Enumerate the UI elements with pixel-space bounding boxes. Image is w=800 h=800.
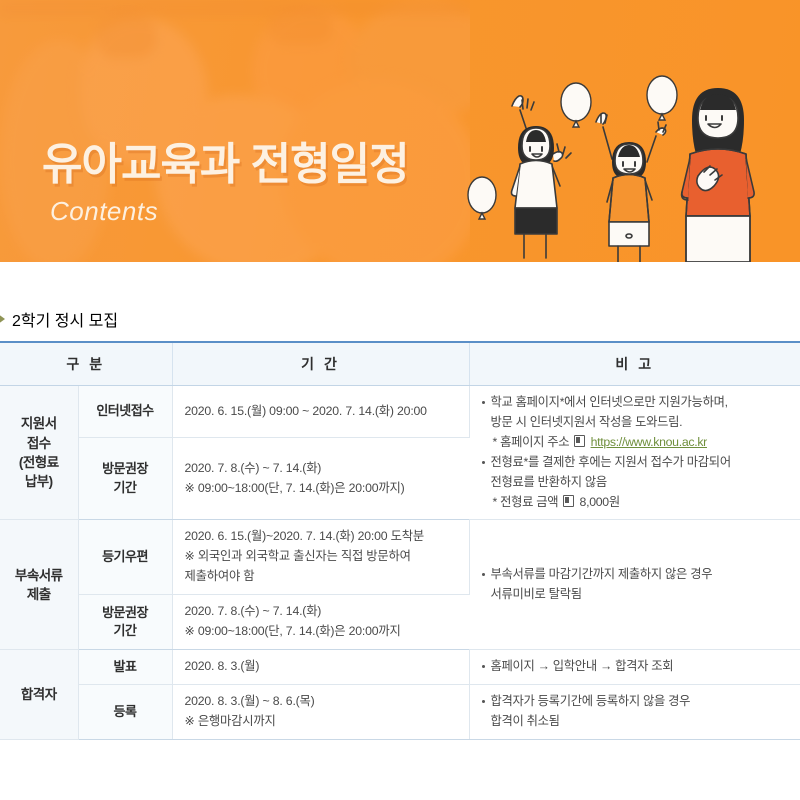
- section-heading: 2학기 정시 모집: [0, 305, 800, 333]
- subcategory-visit-period: 방문권장 기간: [78, 438, 172, 520]
- subcategory-registration: 등록: [78, 684, 172, 739]
- triangle-bullet-icon: [0, 314, 5, 324]
- subcategory-visit-period: 방문권장 기간: [78, 595, 172, 650]
- remark-application-receipt: 학교 홈페이지*에서 인터넷으로만 지원가능하며, 방문 시 인터넷지원서 작성…: [469, 386, 800, 520]
- banner-title: 유아교육과 전형일정: [42, 128, 409, 192]
- celebrating-people-illustration: [460, 62, 800, 262]
- subcategory-announcement: 발표: [78, 649, 172, 684]
- table-row: 등록 2020. 8. 3.(월) ~ 8. 6.(목) ※ 은행마감시까지 합…: [0, 684, 800, 739]
- column-header-period: 기 간: [172, 342, 469, 386]
- category-document-submission: 부속서류 제출: [0, 520, 78, 650]
- category-application-receipt: 지원서 접수 (전형료 납부): [0, 386, 78, 520]
- banner-subtitle: Contents: [50, 196, 158, 227]
- column-header-remark: 비 고: [469, 342, 800, 386]
- table-header-row: 구 분 기 간 비 고: [0, 342, 800, 386]
- period-announcement: 2020. 8. 3.(월): [172, 649, 469, 684]
- period-internet-receipt: 2020. 6. 15.(월) 09:00 ~ 2020. 7. 14.(화) …: [172, 386, 469, 438]
- fee-amount-value: 8,000원: [580, 495, 620, 509]
- table-row: 지원서 접수 (전형료 납부) 인터넷접수 2020. 6. 15.(월) 09…: [0, 386, 800, 438]
- table-row: 부속서류 제출 등기우편 2020. 6. 15.(월)~2020. 7. 14…: [0, 520, 800, 595]
- admission-schedule-table: 구 분 기 간 비 고 지원서 접수 (전형료 납부) 인터넷접수 2020. …: [0, 341, 800, 740]
- period-registered-mail: 2020. 6. 15.(월)~2020. 7. 14.(화) 20:00 도착…: [172, 520, 469, 595]
- category-successful-applicant: 합격자: [0, 649, 78, 739]
- homepage-address-label: * 홈페이지 주소: [493, 435, 570, 449]
- column-header-category: 구 분: [0, 342, 172, 386]
- remark-registration: 합격자가 등록기간에 등록하지 않을 경우 합격이 취소됨: [469, 684, 800, 739]
- subcategory-registered-mail: 등기우편: [78, 520, 172, 595]
- girl-figure: [512, 96, 572, 258]
- period-visit-recommended: 2020. 7. 8.(수) ~ 7. 14.(화) ※ 09:00~18:00…: [172, 438, 469, 520]
- period-registration: 2020. 8. 3.(월) ~ 8. 6.(목) ※ 은행마감시까지: [172, 684, 469, 739]
- table-row: 합격자 발표 2020. 8. 3.(월) 홈페이지 → 입학안내 → 합격자 …: [0, 649, 800, 684]
- subcategory-internet-receipt: 인터넷접수: [78, 386, 172, 438]
- section-heading-label: 2학기 정시 모집: [12, 307, 118, 331]
- woman-figure: [682, 88, 755, 262]
- boy-figure: [596, 113, 666, 262]
- page-banner: 유아교육과 전형일정 Contents: [0, 0, 800, 262]
- remark-announcement: 홈페이지 → 입학안내 → 합격자 조회: [469, 649, 800, 684]
- document-icon: [574, 435, 585, 447]
- knou-homepage-link[interactable]: https://www.knou.ac.kr: [591, 435, 707, 449]
- document-icon: [563, 495, 574, 507]
- period-visit-recommended: 2020. 7. 8.(수) ~ 7. 14.(화) ※ 09:00~18:00…: [172, 595, 469, 650]
- table-body: 지원서 접수 (전형료 납부) 인터넷접수 2020. 6. 15.(월) 09…: [0, 386, 800, 740]
- fee-amount-label: * 전형료 금액: [493, 495, 559, 509]
- remark-document-submission: 부속서류를 마감기간까지 제출하지 않은 경우 서류미비로 탈락됨: [469, 520, 800, 650]
